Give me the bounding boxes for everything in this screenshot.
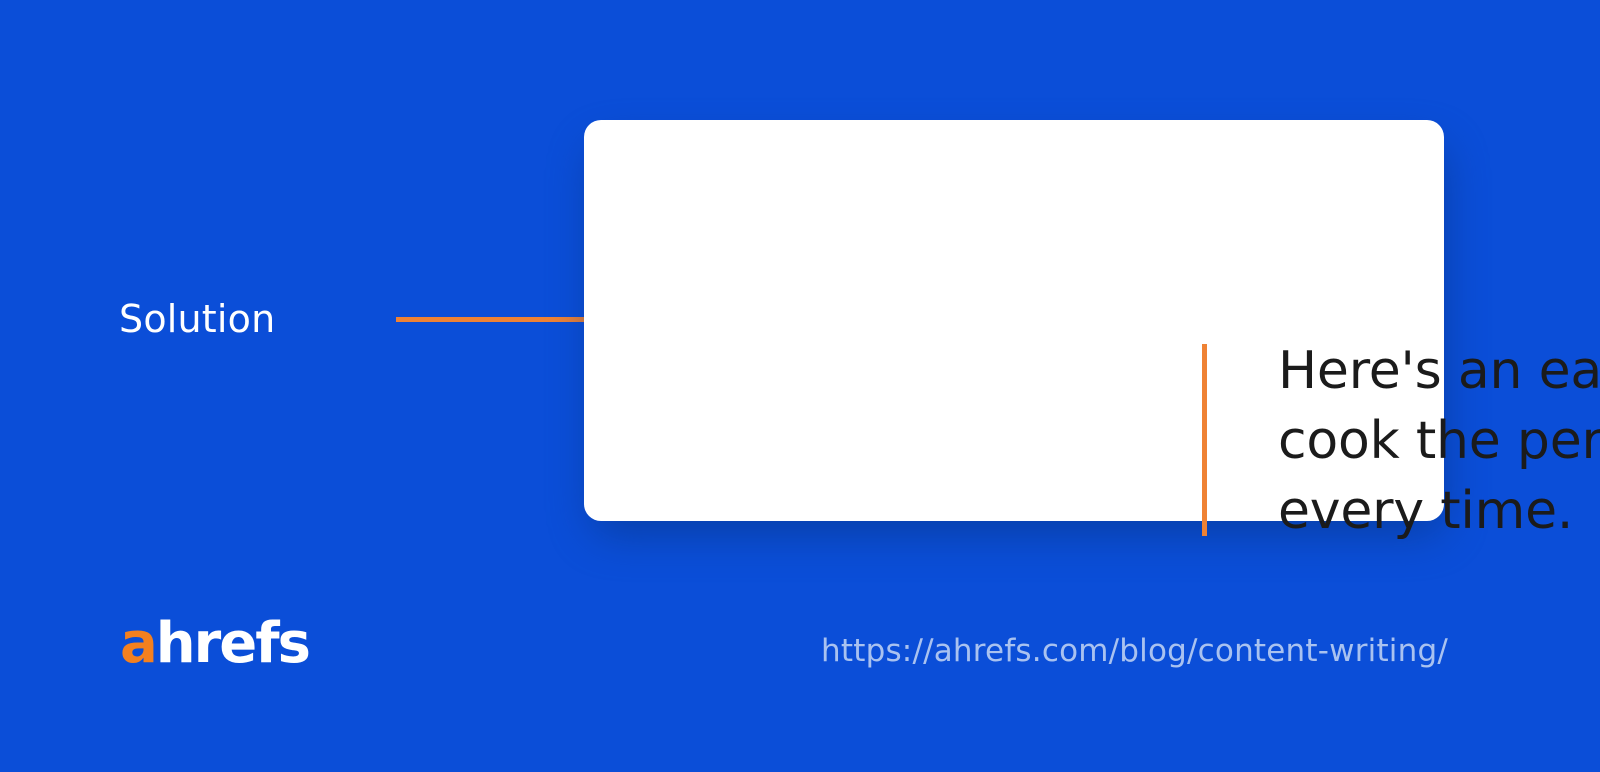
connector-vertical-bar — [1202, 344, 1207, 536]
logo-letter-a: a — [120, 611, 156, 676]
quote-card: Here's an easy way to cook the perfect s… — [584, 120, 1444, 521]
card-headline: Here's an easy way to cook the perfect s… — [1278, 336, 1600, 546]
ahrefs-logo: ahrefs — [120, 612, 309, 676]
annotation-label-solution: Solution — [119, 296, 275, 342]
source-url[interactable]: https://ahrefs.com/blog/content-writing/ — [821, 630, 1448, 672]
logo-text-hrefs: hrefs — [156, 611, 309, 676]
slide-canvas: Solution Here's an easy way to cook the … — [0, 0, 1600, 772]
